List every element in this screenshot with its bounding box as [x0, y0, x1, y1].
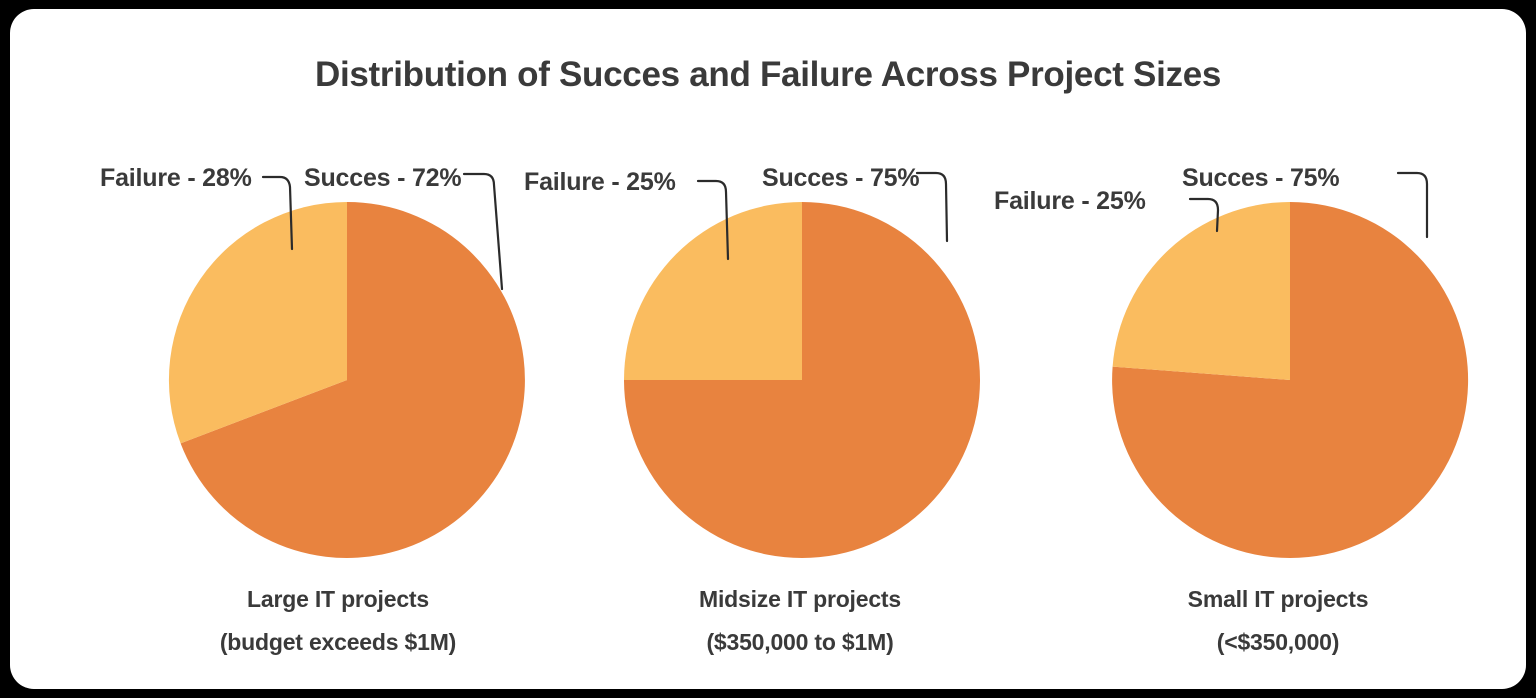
slice-label-success: Succes - 75% — [1182, 164, 1339, 193]
pie-panel-small-it-projects: Failure - 25% Succes - 75% Small IT proj… — [1028, 9, 1526, 689]
panel-caption-line1: Large IT projects — [88, 586, 588, 613]
pie-panel-midsize-it-projects: Failure - 25% Succes - 75% Midsize IT pr… — [550, 9, 1050, 689]
pie-panel-large-it-projects: Failure - 28% Succes - 72% Large IT proj… — [88, 9, 588, 689]
leader-line-success — [917, 173, 947, 241]
panel-caption-line1: Small IT projects — [1028, 586, 1526, 613]
chart-card: Distribution of Succes and Failure Acros… — [10, 9, 1526, 689]
slice-label-failure: Failure - 25% — [524, 168, 676, 197]
screenshot-root: Distribution of Succes and Failure Acros… — [0, 0, 1536, 698]
slice-label-success: Succes - 72% — [304, 164, 461, 193]
slice-label-success: Succes - 75% — [762, 164, 919, 193]
panel-caption-line2: (<$350,000) — [1028, 629, 1526, 656]
panel-caption-line1: Midsize IT projects — [550, 586, 1050, 613]
panel-caption-line2: (budget exceeds $1M) — [88, 629, 588, 656]
slice-label-failure: Failure - 25% — [994, 187, 1146, 216]
pie-slice-failure[interactable] — [624, 202, 802, 380]
leader-line-success — [1398, 173, 1427, 237]
slice-label-failure: Failure - 28% — [100, 164, 252, 193]
panel-caption-line2: ($350,000 to $1M) — [550, 629, 1050, 656]
pie-slice-failure[interactable] — [1113, 202, 1290, 380]
